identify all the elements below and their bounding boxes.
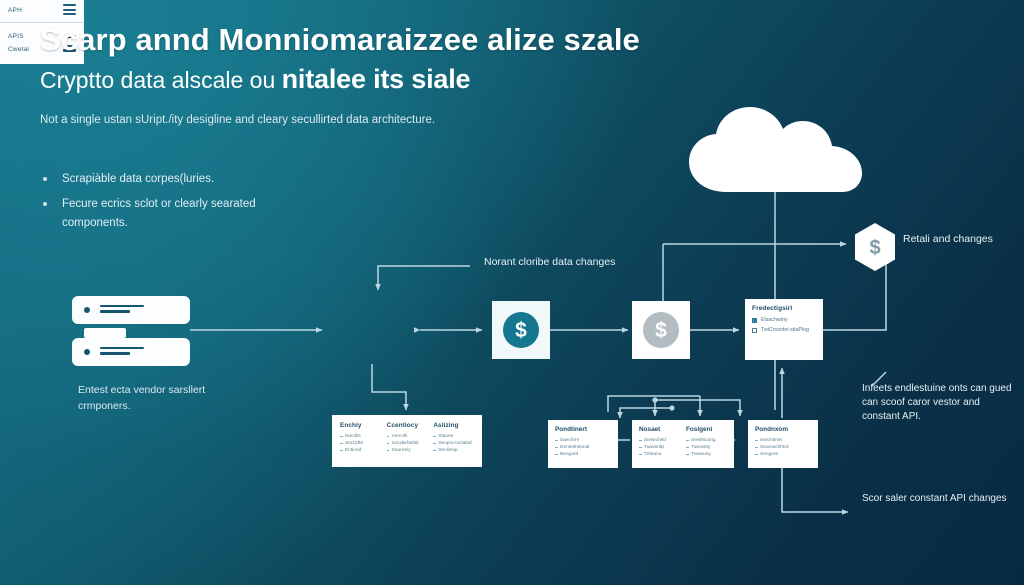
category-item: Seupra toclabid [433,440,474,447]
category-column: Ccentiocy Aencrlli Socderhtebit Soureeiy [387,422,428,460]
feature-box-item: Siewrd'eld [639,437,680,444]
cloud-icon [683,104,869,199]
categories-card[interactable]: Enchiy Nocrills Stoz)dM Entiroid Ccentio… [332,415,482,467]
page-subtitle-thin: Cryptto data alscale ou [40,67,275,93]
category-item: Seclizeip [433,447,474,454]
feature-box-2[interactable]: Nosaet Siewrd'eld Tuaverdp Triteanu Fosl… [632,420,734,468]
dollar-icon: $ [503,312,539,348]
checkbox-checked-icon[interactable] [752,318,757,323]
feature-box-item: Saechrm [555,437,611,444]
annotation-data-changes: Norant cloribe data changes [484,255,634,270]
feature-box-item: Bengard [555,451,611,458]
server-node-bottom[interactable] [72,338,190,366]
feature-box-1[interactable]: Pondtinert Saechrm Denteshitonal Bengard [548,420,618,468]
category-column: Enchiy Nocrills Stoz)dM Entiroid [340,422,381,460]
checklist-card-title: Fredectigsirl [752,305,816,312]
infographic-canvas: Scarp annd Monniomaraizzee alize szale C… [0,0,1024,585]
category-item: Slaurer [433,433,474,440]
page-title-text: Scarp annd Monniomaraizzee alize szale [40,22,640,57]
server-node-caption: Entest ecta vendor sarsllert crmponers. [78,382,238,414]
feature-box-header: Nosaet [639,426,680,433]
server-node-spacer [84,328,126,338]
feature-box-item: Seumaclrhtrd [755,444,811,451]
checklist-card[interactable]: Fredectigsirl Elsachwiny TwiCrozotei sti… [745,299,823,360]
dollar-icon: $ [643,312,679,348]
feature-bullet-list: Scrapiàble data corpes(luries. Fecure ec… [40,170,300,239]
feature-box-3[interactable]: Pondnxom Swichtinet Seumaclrhtrd Sengore [748,420,818,468]
server-lines-icon [100,305,144,316]
feature-box-header: Pondnxom [755,426,811,433]
status-dot-icon [84,307,90,313]
page-description: Not a single ustan sUript./ity desigline… [40,114,435,126]
feature-box-item: Treasuny [686,451,727,458]
category-item: Stoz)dM [340,440,381,447]
feature-box-item: Tuaverdp [639,444,680,451]
annotation-api-changes: Scor saler constant API changes [862,492,1014,506]
feature-box-item: Swichtinet [755,437,811,444]
feature-box-item: Sewihicong [686,437,727,444]
hex-badge-label: Retali and changes [903,232,1009,247]
feature-box-column: Foslgeni Sewihicong Tueovitty Treasuny [686,426,727,458]
svg-text:$: $ [869,237,880,259]
checkbox-unchecked-icon[interactable] [752,328,757,333]
checklist-item[interactable]: Elsachwiny [752,317,816,324]
feature-box-header: Pondtinert [555,426,611,433]
category-item: Socderhtebit [387,440,428,447]
feature-box-item: Tueovitty [686,444,727,451]
category-item: Entiroid [340,447,381,454]
category-column: Aslizing Slaurer Seupra toclabid Seclize… [433,422,474,460]
checklist-item-label: TwiCrozotei stiaPlog [761,327,809,334]
hex-dollar-badge[interactable]: $ [853,222,897,277]
category-item: Nocrills [340,433,381,440]
page-subtitle-line: Cryptto data alscale ou nitalee its sial… [40,64,470,95]
checklist-item-label: Elsachwiny [761,317,788,324]
feature-box-item: Denteshitonal [555,444,611,451]
category-item: Soureeiy [387,447,428,454]
category-item: Aencrlli [387,433,428,440]
feature-box-header: Foslgeni [686,426,727,433]
feature-box-column: Nosaet Siewrd'eld Tuaverdp Triteanu [639,426,680,458]
feature-box-item: Triteanu [639,451,680,458]
bullet-item: Scrapiàble data corpes(luries. [40,170,300,189]
category-header: Aslizing [433,422,474,429]
status-dot-icon [84,349,90,355]
category-header: Ccentiocy [387,422,428,429]
annotation-endpoints: Infeets endlestuine onts can gued can sc… [862,382,1014,424]
category-header: Enchiy [340,422,381,429]
bullet-item: Fecure ecrics sclot or clearly searated … [40,195,300,233]
server-node-top[interactable] [72,296,190,324]
page-title: Scarp annd Monniomaraizzee alize szale [40,22,640,58]
feature-box-item: Sengore [755,451,811,458]
server-lines-icon [100,347,144,358]
dollar-node-primary[interactable]: $ [492,301,550,359]
page-subtitle-strong: nitalee its siale [282,64,471,94]
checklist-item[interactable]: TwiCrozotei stiaPlog [752,327,816,334]
dollar-node-secondary[interactable]: $ [632,301,690,359]
